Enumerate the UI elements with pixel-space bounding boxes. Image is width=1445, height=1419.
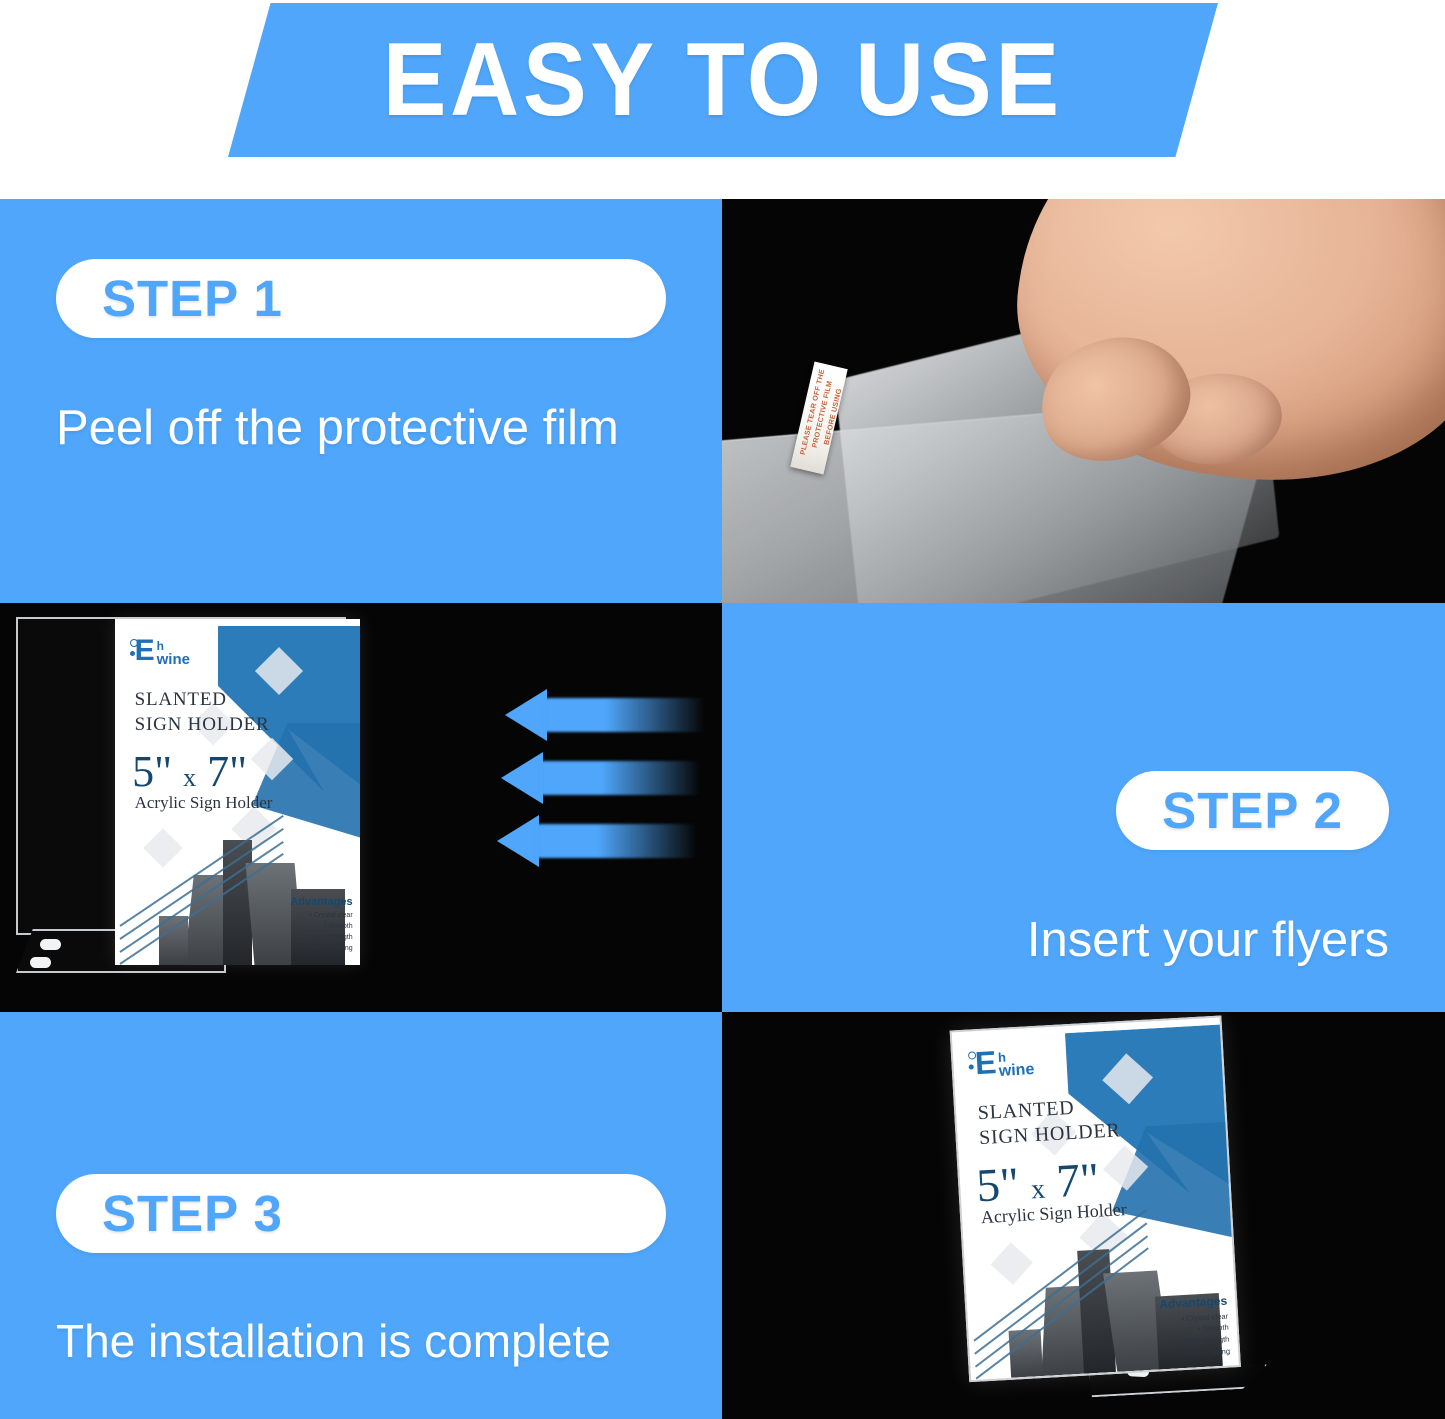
assembled-holder-photo: E h wine SLANTED SI (722, 1012, 1445, 1419)
step-1-label: STEP 1 (102, 271, 620, 326)
step-3-caption: The installation is complete (56, 1315, 666, 1368)
step-2-photo-cell: E h wine SLANTED SIGN HOLDER (0, 603, 722, 1012)
flyer-artwork-3: E h wine SLANTED SI (952, 1018, 1239, 1380)
diag-line-3 (975, 1235, 1148, 1367)
step-3-text-cell: STEP 3 The installation is complete (0, 1012, 722, 1419)
step-3-photo-cell: E h wine SLANTED SI (722, 1012, 1445, 1419)
arrow-tail-1 (545, 698, 705, 732)
arrow-head-2 (501, 752, 543, 804)
flyer-diagonal-lines (966, 1190, 1141, 1359)
step-2-caption: Insert your flyers (1027, 912, 1389, 968)
arrow-left-icon (505, 698, 705, 732)
assembled-sign-holder: E h wine SLANTED SI (950, 1014, 1271, 1408)
flyer-advantages: Advantages • Crystal clear • Smooth • Hi… (290, 894, 352, 954)
flyer-diagonal-lines (120, 785, 272, 944)
step-2-label: STEP 2 (1162, 783, 1343, 838)
flyer-card: E h wine SLANTED SIGN HOLDER (115, 619, 360, 965)
brand-wine: wine (157, 652, 190, 667)
step-2-text-cell: STEP 2 Insert your flyers (722, 603, 1445, 1012)
insert-direction-arrows (505, 698, 720, 888)
flyer-advantages: Advantages • Crystal clear • Smooth • Hi… (1159, 1292, 1231, 1361)
brand-logo: E h wine (135, 638, 190, 667)
brand-dots-icon (967, 1051, 978, 1074)
advantage-item: • High-strength (290, 933, 352, 944)
page-title: EASY TO USE (383, 28, 1063, 132)
brand-dot-1 (968, 1051, 976, 1059)
insert-flyer-photo: E h wine SLANTED SIGN HOLDER (0, 603, 722, 1012)
flyer-title-line-2: SIGN HOLDER (979, 1119, 1122, 1149)
brand-logo: E h wine (974, 1047, 1035, 1081)
arrow-left-icon (501, 761, 701, 795)
arrow-tail-3 (537, 824, 697, 858)
flyer-artwork: E h wine SLANTED SIGN HOLDER (115, 619, 360, 965)
easy-to-use-banner: EASY TO USE (228, 3, 1218, 157)
arrow-left-icon (497, 824, 697, 858)
hand-peeling-film-photo: PLEASE TEAR OFF THE PROTECTIVE FILM BEFO… (722, 199, 1445, 603)
step-2-content: STEP 2 Insert your flyers (722, 603, 1445, 1012)
flyer-title-line-1: SLANTED (135, 689, 227, 710)
flyer-title-line-1: SLANTED (977, 1096, 1075, 1123)
arrow-tail-2 (541, 761, 701, 795)
step-3-label: STEP 3 (102, 1186, 620, 1241)
base-slot-2 (30, 957, 51, 968)
brand-dots-icon (129, 639, 139, 661)
flyer-title: SLANTED SIGN HOLDER (977, 1093, 1121, 1152)
brand-wordmark: h wine (157, 640, 190, 667)
diag-line-2 (974, 1222, 1147, 1354)
step-3-pill: STEP 3 (56, 1174, 666, 1253)
arrow-head-1 (505, 689, 547, 741)
step-1-text-cell: STEP 1 Peel off the protective film (0, 199, 722, 603)
step-1-content: STEP 1 Peel off the protective film (0, 199, 722, 603)
arrow-head-3 (497, 815, 539, 867)
header-banner-area: EASY TO USE (0, 0, 1445, 199)
advantage-item: • Crystal clear (290, 911, 352, 922)
step-1-pill: STEP 1 (56, 259, 666, 338)
brand-wine: wine (998, 1062, 1034, 1080)
advantage-item: • Resist falling (290, 944, 352, 955)
brand-dot-2 (969, 1064, 974, 1069)
step-1-photo-cell: PLEASE TEAR OFF THE PROTECTIVE FILM BEFO… (722, 199, 1445, 603)
step-1-caption: Peel off the protective film (56, 400, 666, 456)
diag-line-2 (119, 828, 284, 940)
base-slot-1 (40, 939, 61, 950)
flyer-title: SLANTED SIGN HOLDER (135, 688, 270, 737)
advantage-item: • Smooth (290, 922, 352, 933)
step-2-pill: STEP 2 (1116, 771, 1389, 850)
advantages-title: Advantages (290, 894, 352, 911)
steps-grid: STEP 1 Peel off the protective film PLEA… (0, 199, 1445, 1419)
brand-dot-2 (130, 651, 135, 656)
step-3-content: STEP 3 The installation is complete (0, 1012, 722, 1419)
flyer-title-line-2: SIGN HOLDER (135, 714, 270, 735)
brand-dot-1 (130, 639, 138, 647)
diag-line-1 (974, 1209, 1147, 1341)
holder-front-panel: E h wine SLANTED SI (950, 1015, 1241, 1382)
brand-wordmark: h wine (998, 1049, 1035, 1080)
diag-line-3 (119, 840, 284, 952)
